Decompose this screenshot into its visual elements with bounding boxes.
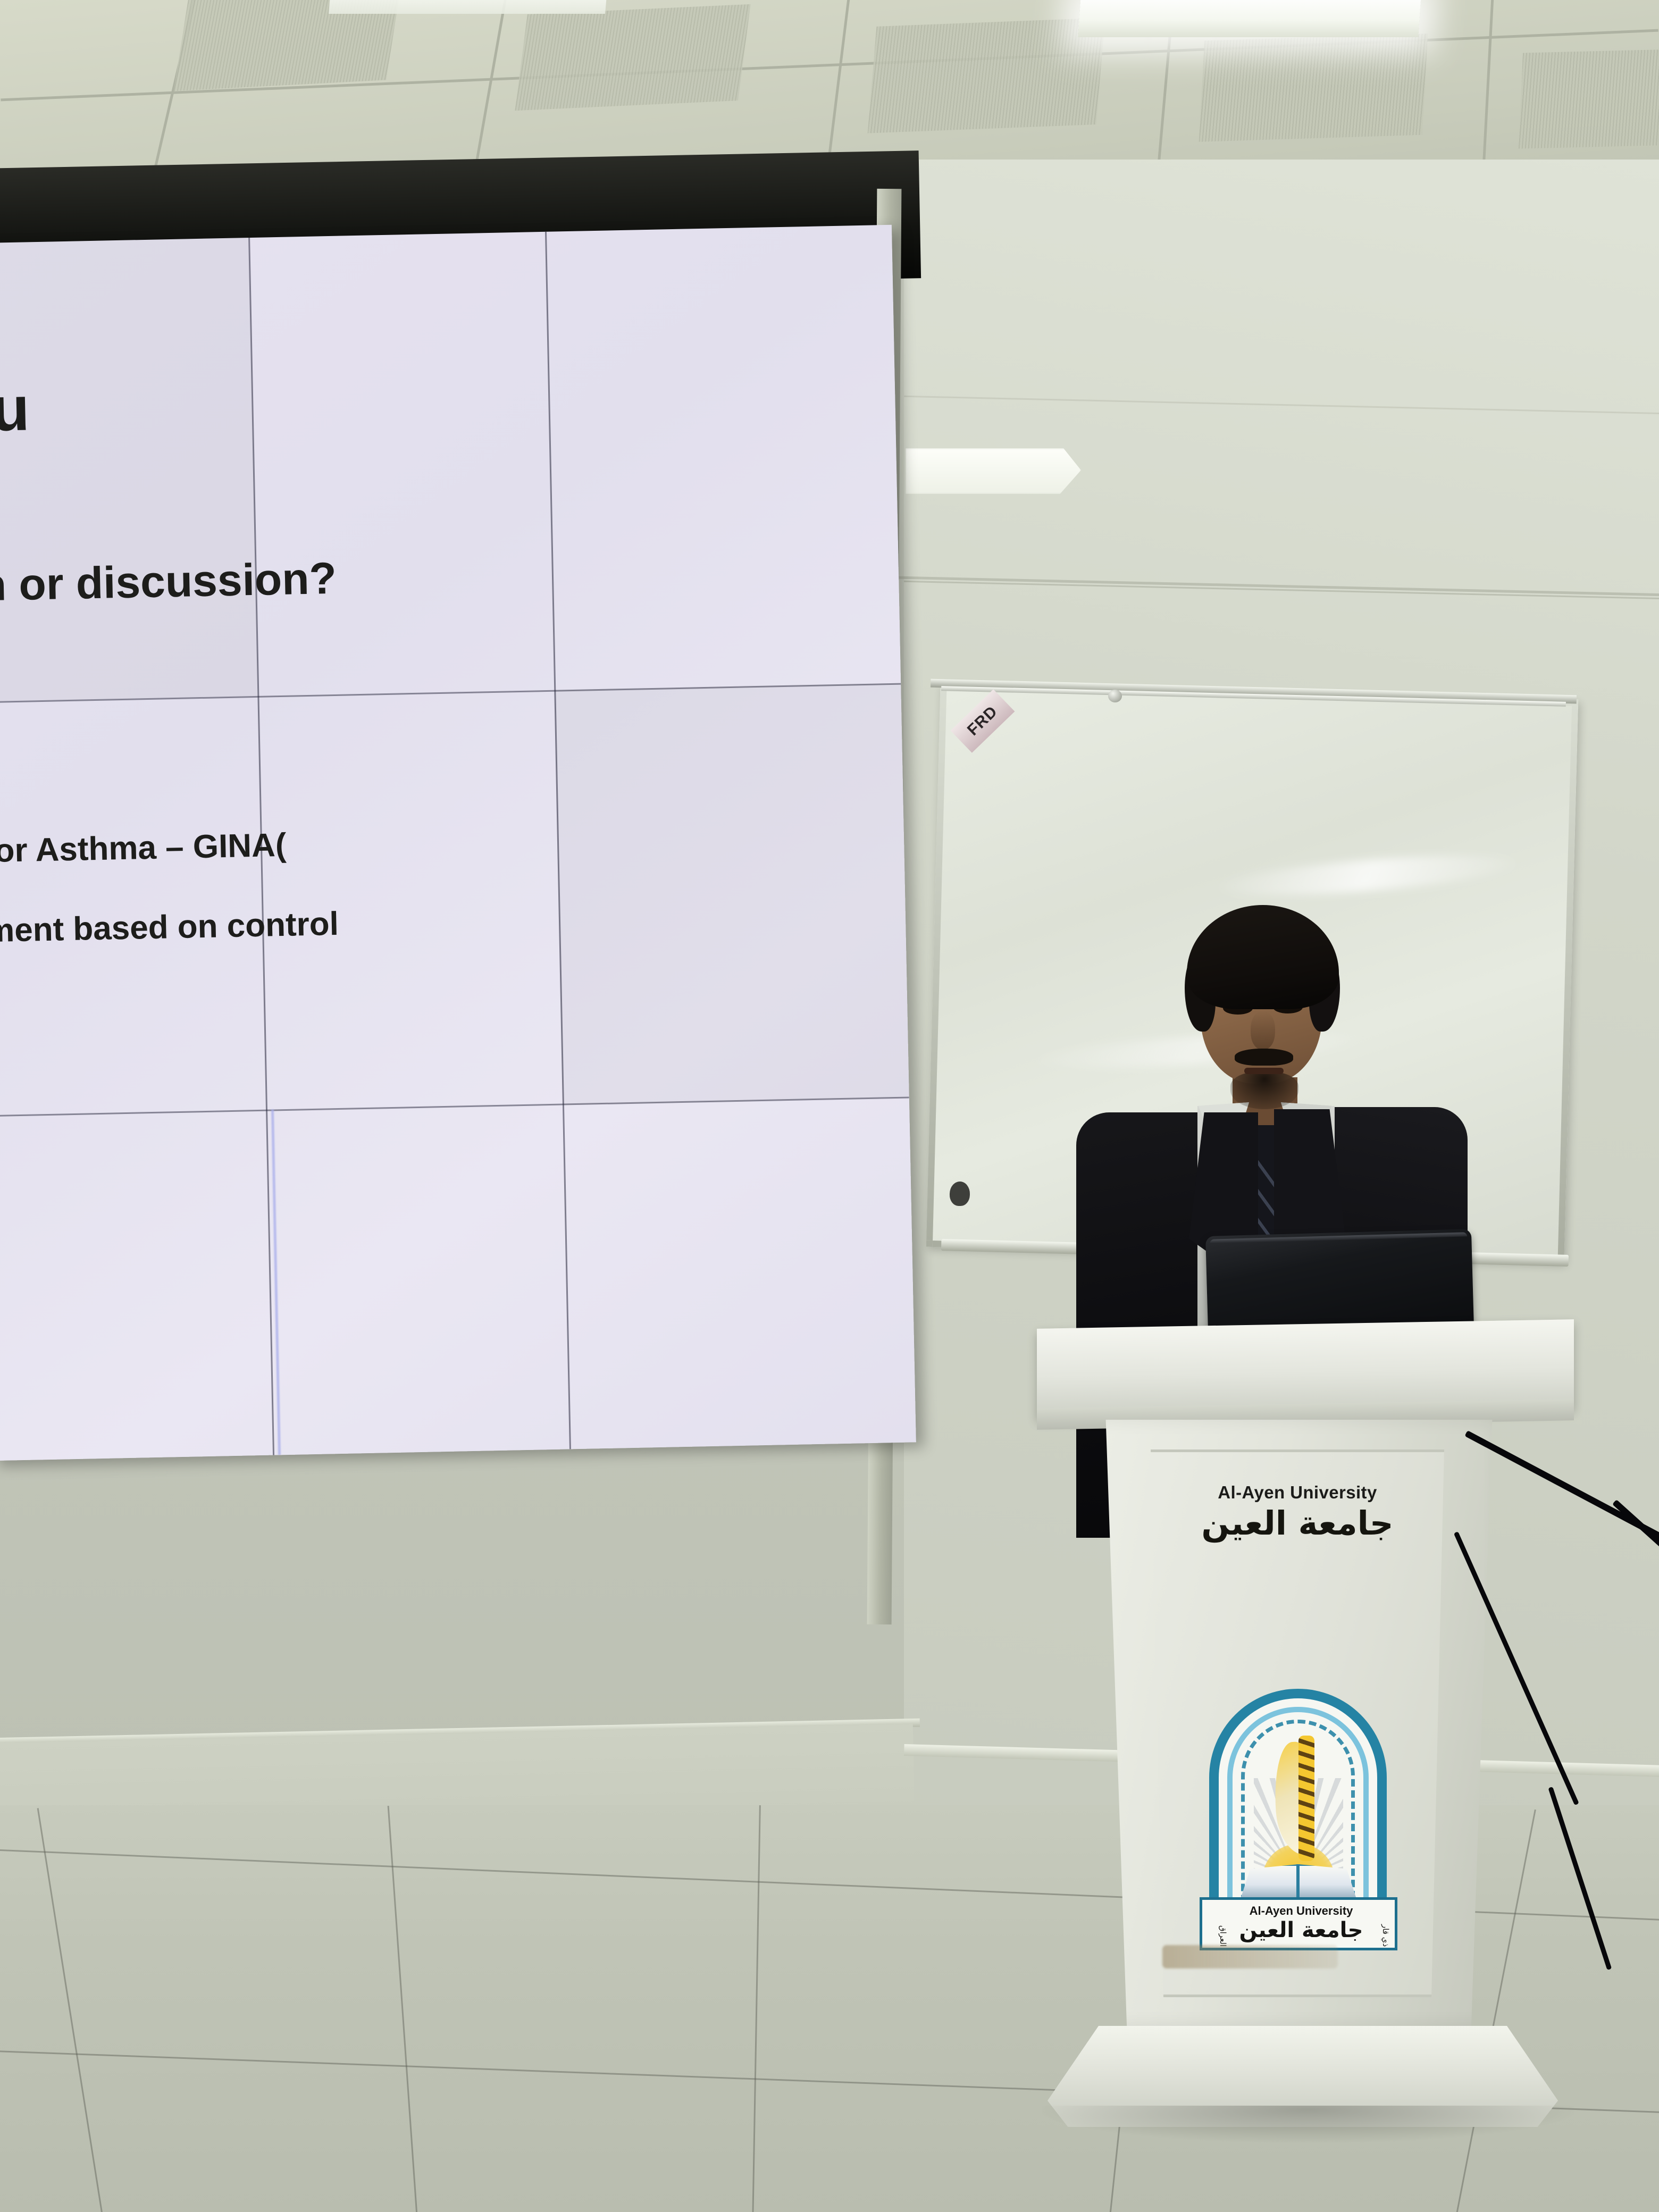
ceiling-light-panel-right xyxy=(1078,0,1421,37)
speaker-nose xyxy=(1251,1011,1275,1050)
emblem-banner-side-right: ذي قار xyxy=(1369,1905,1390,1947)
video-wall-panel-shade xyxy=(554,683,914,1104)
ceiling-light-panel-left xyxy=(329,0,607,14)
al-ayen-university-emblem: Al-Ayen University جامعة العين العراق ذي… xyxy=(1194,1689,1403,1949)
slide-line-discussion: Any question or discussion? xyxy=(0,552,337,616)
slide-line-reference-3: Asthma management based on control xyxy=(0,905,339,955)
emblem-spiral-pillar xyxy=(1298,1736,1314,1861)
speaker-beard xyxy=(1230,1072,1298,1109)
emblem-banner-side-left: العراق xyxy=(1206,1905,1228,1947)
slide-surface: Thank you Any question or discussion? Gl… xyxy=(0,225,916,1461)
emblem-banner: Al-Ayen University جامعة العين العراق ذي… xyxy=(1200,1897,1397,1950)
presentation-screen[interactable]: Thank you Any question or discussion? Gl… xyxy=(0,225,916,1461)
speaker-hair xyxy=(1187,905,1339,1009)
slide-line-thank-you: Thank you xyxy=(0,372,30,451)
slide-line-reference-1: Global Initiative for Asthma – GINA( xyxy=(0,826,287,875)
whiteboard-mount-knob xyxy=(949,1182,970,1206)
lecture-hall-photo: A young man in a dark suit and striped t… xyxy=(0,0,1659,2212)
speaker-mouth xyxy=(1244,1068,1284,1074)
lectern-scuff-mark xyxy=(1162,1945,1338,1968)
lectern-base-shadow xyxy=(1042,2106,1574,2143)
slide-text-block: Thank you Any question or discussion? Gl… xyxy=(0,231,592,1461)
lectern-brand-english: Al-Ayen University xyxy=(1149,1482,1446,1503)
wall-light-reflection xyxy=(906,448,1081,494)
lectern-brand-arabic: جامعة العين xyxy=(1149,1503,1446,1544)
speaker-moustache xyxy=(1235,1049,1293,1066)
emblem-book-spine xyxy=(1296,1864,1300,1897)
